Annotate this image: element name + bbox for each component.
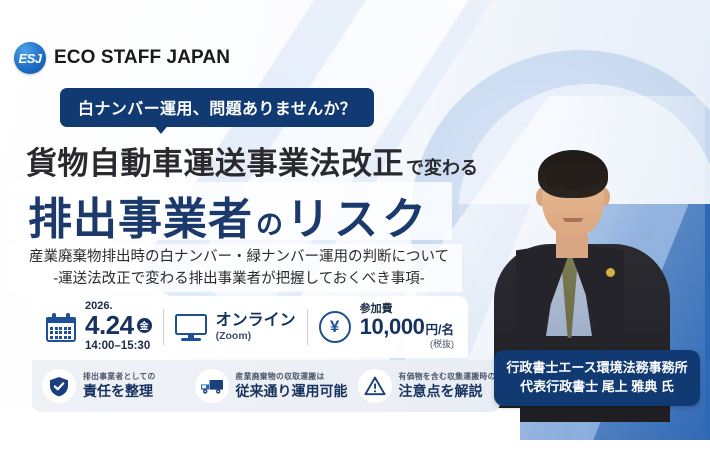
subtitle: 産業廃棄物排出時の白ナンバー・緑ナンバー運用の判断について -運送法改正で変わる…	[20, 246, 458, 291]
bottom-white-strip	[0, 440, 710, 474]
feature-title: 従来通り運用可能	[236, 382, 348, 400]
speaker-name-plate: 行政書士エース環境法務事務所 代表行政書士 尾上 雅典 氏	[494, 350, 700, 406]
event-venue: オンライン	[216, 312, 296, 330]
truck-icon	[195, 369, 229, 403]
brand-logo[interactable]: ESJ ECO STAFF JAPAN	[14, 42, 230, 74]
feature-caption: 産業廃棄物の収取運搬は	[236, 372, 348, 382]
feature-title: 注意点を解説	[399, 382, 496, 400]
headline-primary-main: 貨物自動車運送事業法改正	[26, 138, 404, 183]
warning-triangle-icon	[358, 369, 392, 403]
speaker-hair	[538, 150, 608, 198]
headline-emphasis: 排出事業者 の リスク	[28, 183, 430, 247]
event-venue-sub: (Zoom)	[216, 330, 296, 342]
feature-bar: 排出事業者としての 責任を整理 産業廃棄物の収取運搬は 従来通り運用可能	[32, 360, 500, 412]
speaker-brow-left	[553, 186, 566, 189]
headline-primary: 貨物自動車運送事業法改正 で変わる	[26, 138, 478, 183]
subtitle-line-1: 産業廃棄物排出時の白ナンバー・緑ナンバー運用の判断について	[20, 246, 458, 268]
hero-badge-tail-icon	[152, 123, 170, 134]
brand-name: ECO STAFF JAPAN	[54, 47, 230, 69]
fee-tax-note: (税抜)	[360, 338, 454, 351]
hero-badge: 白ナンバー運用、問題ありませんか？	[60, 88, 374, 127]
info-divider-1	[163, 309, 164, 345]
feature-caption: 排出事業者としての	[83, 372, 156, 382]
monitor-icon	[175, 314, 207, 340]
event-day: 4.24	[85, 312, 134, 338]
speaker-brow-right	[580, 186, 593, 189]
headline-emphasis-particle: の	[256, 203, 283, 242]
speaker-eye-left	[555, 192, 565, 195]
yen-circle-icon: ¥	[319, 311, 351, 343]
headline-primary-suffix: で変わる	[406, 154, 478, 180]
speaker-eye-right	[582, 192, 592, 195]
esj-monogram: ESJ	[18, 51, 41, 66]
speaker-mouth	[563, 218, 583, 222]
feature-caption: 有価物を含む収集運搬時の	[399, 372, 496, 382]
speaker-office: 行政書士エース環境法務事務所	[506, 359, 687, 378]
feature-item-caution: 有価物を含む収集運搬時の 注意点を解説	[348, 369, 501, 403]
subtitle-line-2: -運送法改正で変わる排出事業者が把握しておくべき事項-	[20, 268, 458, 290]
event-weekday: 金	[137, 318, 152, 333]
event-info-bar: 2026. 4.24 金 14:00–15:30 オンライン (Zoom)	[32, 296, 468, 358]
hero-badge-text: 白ナンバー運用、問題ありませんか？	[60, 88, 374, 127]
speaker-name: 代表行政書士 尾上 雅典 氏	[520, 378, 674, 397]
fee-amount: 10,000	[360, 316, 425, 338]
calendar-icon	[46, 313, 76, 342]
event-fee-cell: ¥ 参加費 10,000 円/名 (税抜)	[319, 296, 454, 358]
webinar-poster: ESJ ECO STAFF JAPAN 白ナンバー運用、問題ありませんか？ 貨物…	[0, 0, 710, 474]
feature-item-transport: 産業廃棄物の収取運搬は 従来通り運用可能	[185, 369, 348, 403]
speaker-lapel-pin	[606, 268, 615, 277]
event-time: 14:00–15:30	[85, 339, 152, 354]
headline-emphasis-b: リスク	[286, 183, 430, 247]
esj-circle-icon: ESJ	[14, 42, 46, 74]
shield-check-icon	[42, 369, 76, 403]
event-date-cell: 2026. 4.24 金 14:00–15:30	[32, 296, 152, 358]
feature-title: 責任を整理	[83, 382, 156, 400]
feature-item-responsibility: 排出事業者としての 責任を整理	[32, 369, 185, 403]
fee-unit: 円/名	[426, 319, 454, 338]
headline-emphasis-a: 排出事業者	[28, 183, 253, 247]
event-venue-cell: オンライン (Zoom)	[175, 296, 296, 358]
info-divider-2	[307, 309, 308, 345]
